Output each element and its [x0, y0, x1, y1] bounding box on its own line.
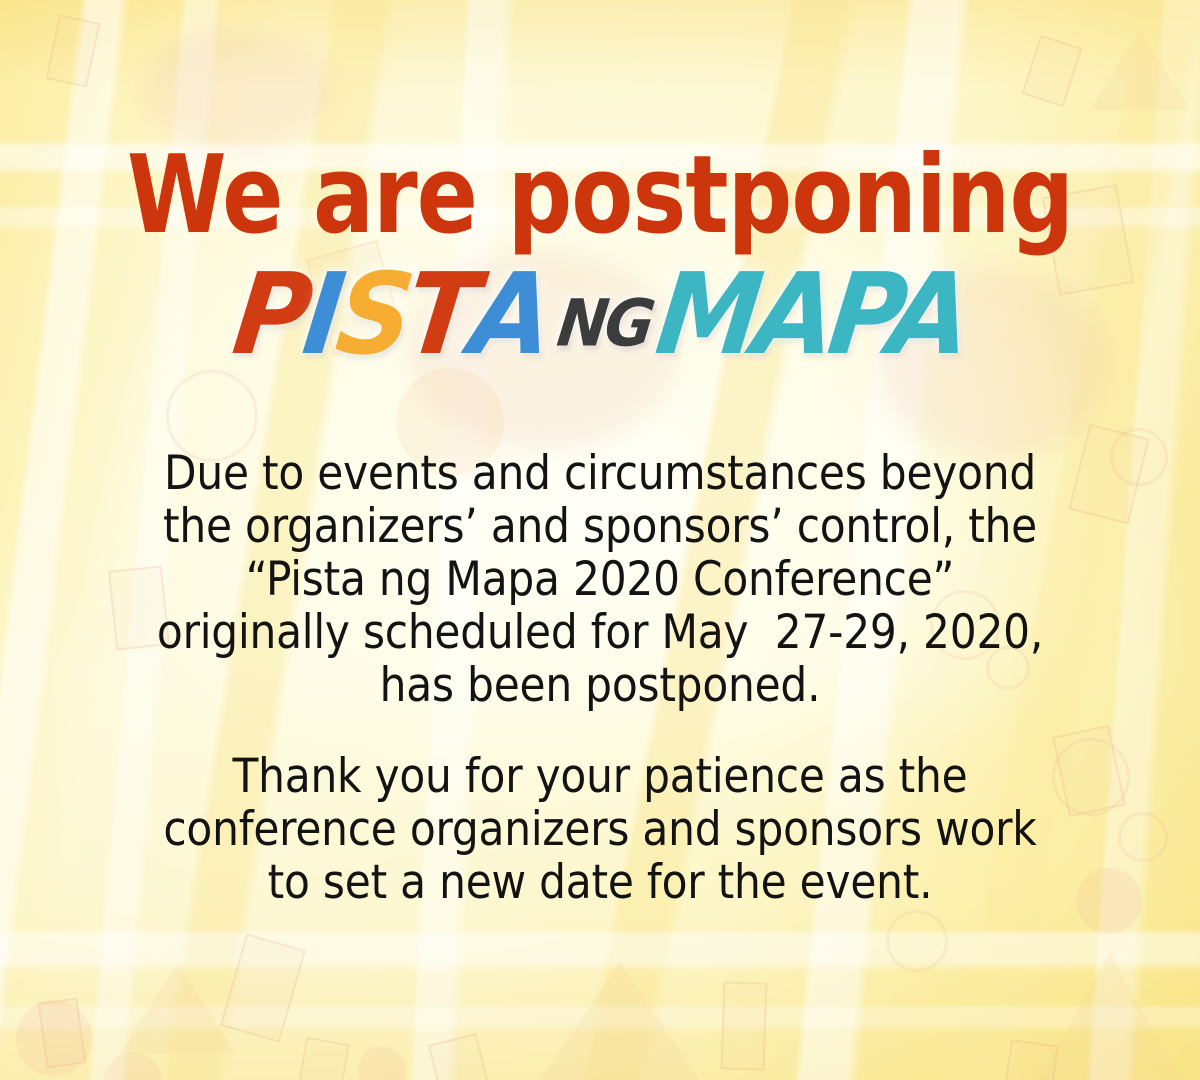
paragraph-1: Due to events and circumstances beyond t… — [0, 447, 1200, 712]
announcement-body: Due to events and circumstances beyond t… — [0, 447, 1200, 909]
triangle-shape-icon — [540, 962, 700, 1080]
logo-word-pista: PISTA — [235, 262, 546, 366]
diamond-shape-icon — [38, 998, 87, 1069]
triangle-shape-icon — [120, 962, 236, 1054]
triangle-shape-icon — [1040, 952, 1180, 1080]
soft-blob-shape — [140, 30, 330, 150]
diamond-shape-icon — [428, 1033, 494, 1080]
diamond-shape-icon — [220, 933, 306, 1042]
paragraph-spacer — [0, 712, 1200, 750]
pista-ng-mapa-logo: PISTA NGMAPA — [0, 262, 1200, 366]
body-line: “Pista ng Mapa 2020 Conference” — [0, 553, 1200, 606]
diamond-shape-icon — [294, 1037, 349, 1080]
diamond-shape-icon — [46, 14, 101, 87]
body-line: to set a new date for the event. — [0, 856, 1200, 909]
circle-outline-icon — [886, 910, 948, 972]
diamond-shape-icon — [1001, 1039, 1058, 1080]
diamond-shape-icon — [720, 981, 767, 1070]
triangle-shape-icon — [1090, 30, 1190, 110]
body-line: originally scheduled for May 27-29, 2020… — [0, 606, 1200, 659]
logo-letter-a: A — [465, 258, 553, 370]
poster-canvas: We are postponing PISTA NGMAPA Due to ev… — [0, 0, 1200, 1080]
diamond-shape-icon — [1021, 35, 1082, 108]
body-line: Thank you for your patience as the — [0, 750, 1200, 803]
headline-text: We are postponing — [42, 142, 1158, 250]
logo-word-mapa: MAPA — [658, 262, 965, 366]
circle-shape-icon — [104, 1052, 162, 1080]
body-line: the organizers’ and sponsors’ control, t… — [0, 500, 1200, 553]
body-line: Due to events and circumstances beyond — [0, 447, 1200, 500]
circle-shape-icon — [358, 1046, 406, 1080]
logo-letters-mapa: MAPA — [651, 258, 972, 370]
circle-shape-icon — [16, 1000, 92, 1076]
body-line: has been postponed. — [0, 659, 1200, 712]
paragraph-2: Thank you for your patience as the confe… — [0, 750, 1200, 909]
body-line: conference organizers and sponsors work — [0, 803, 1200, 856]
logo-connector-ng: NG — [554, 292, 655, 357]
